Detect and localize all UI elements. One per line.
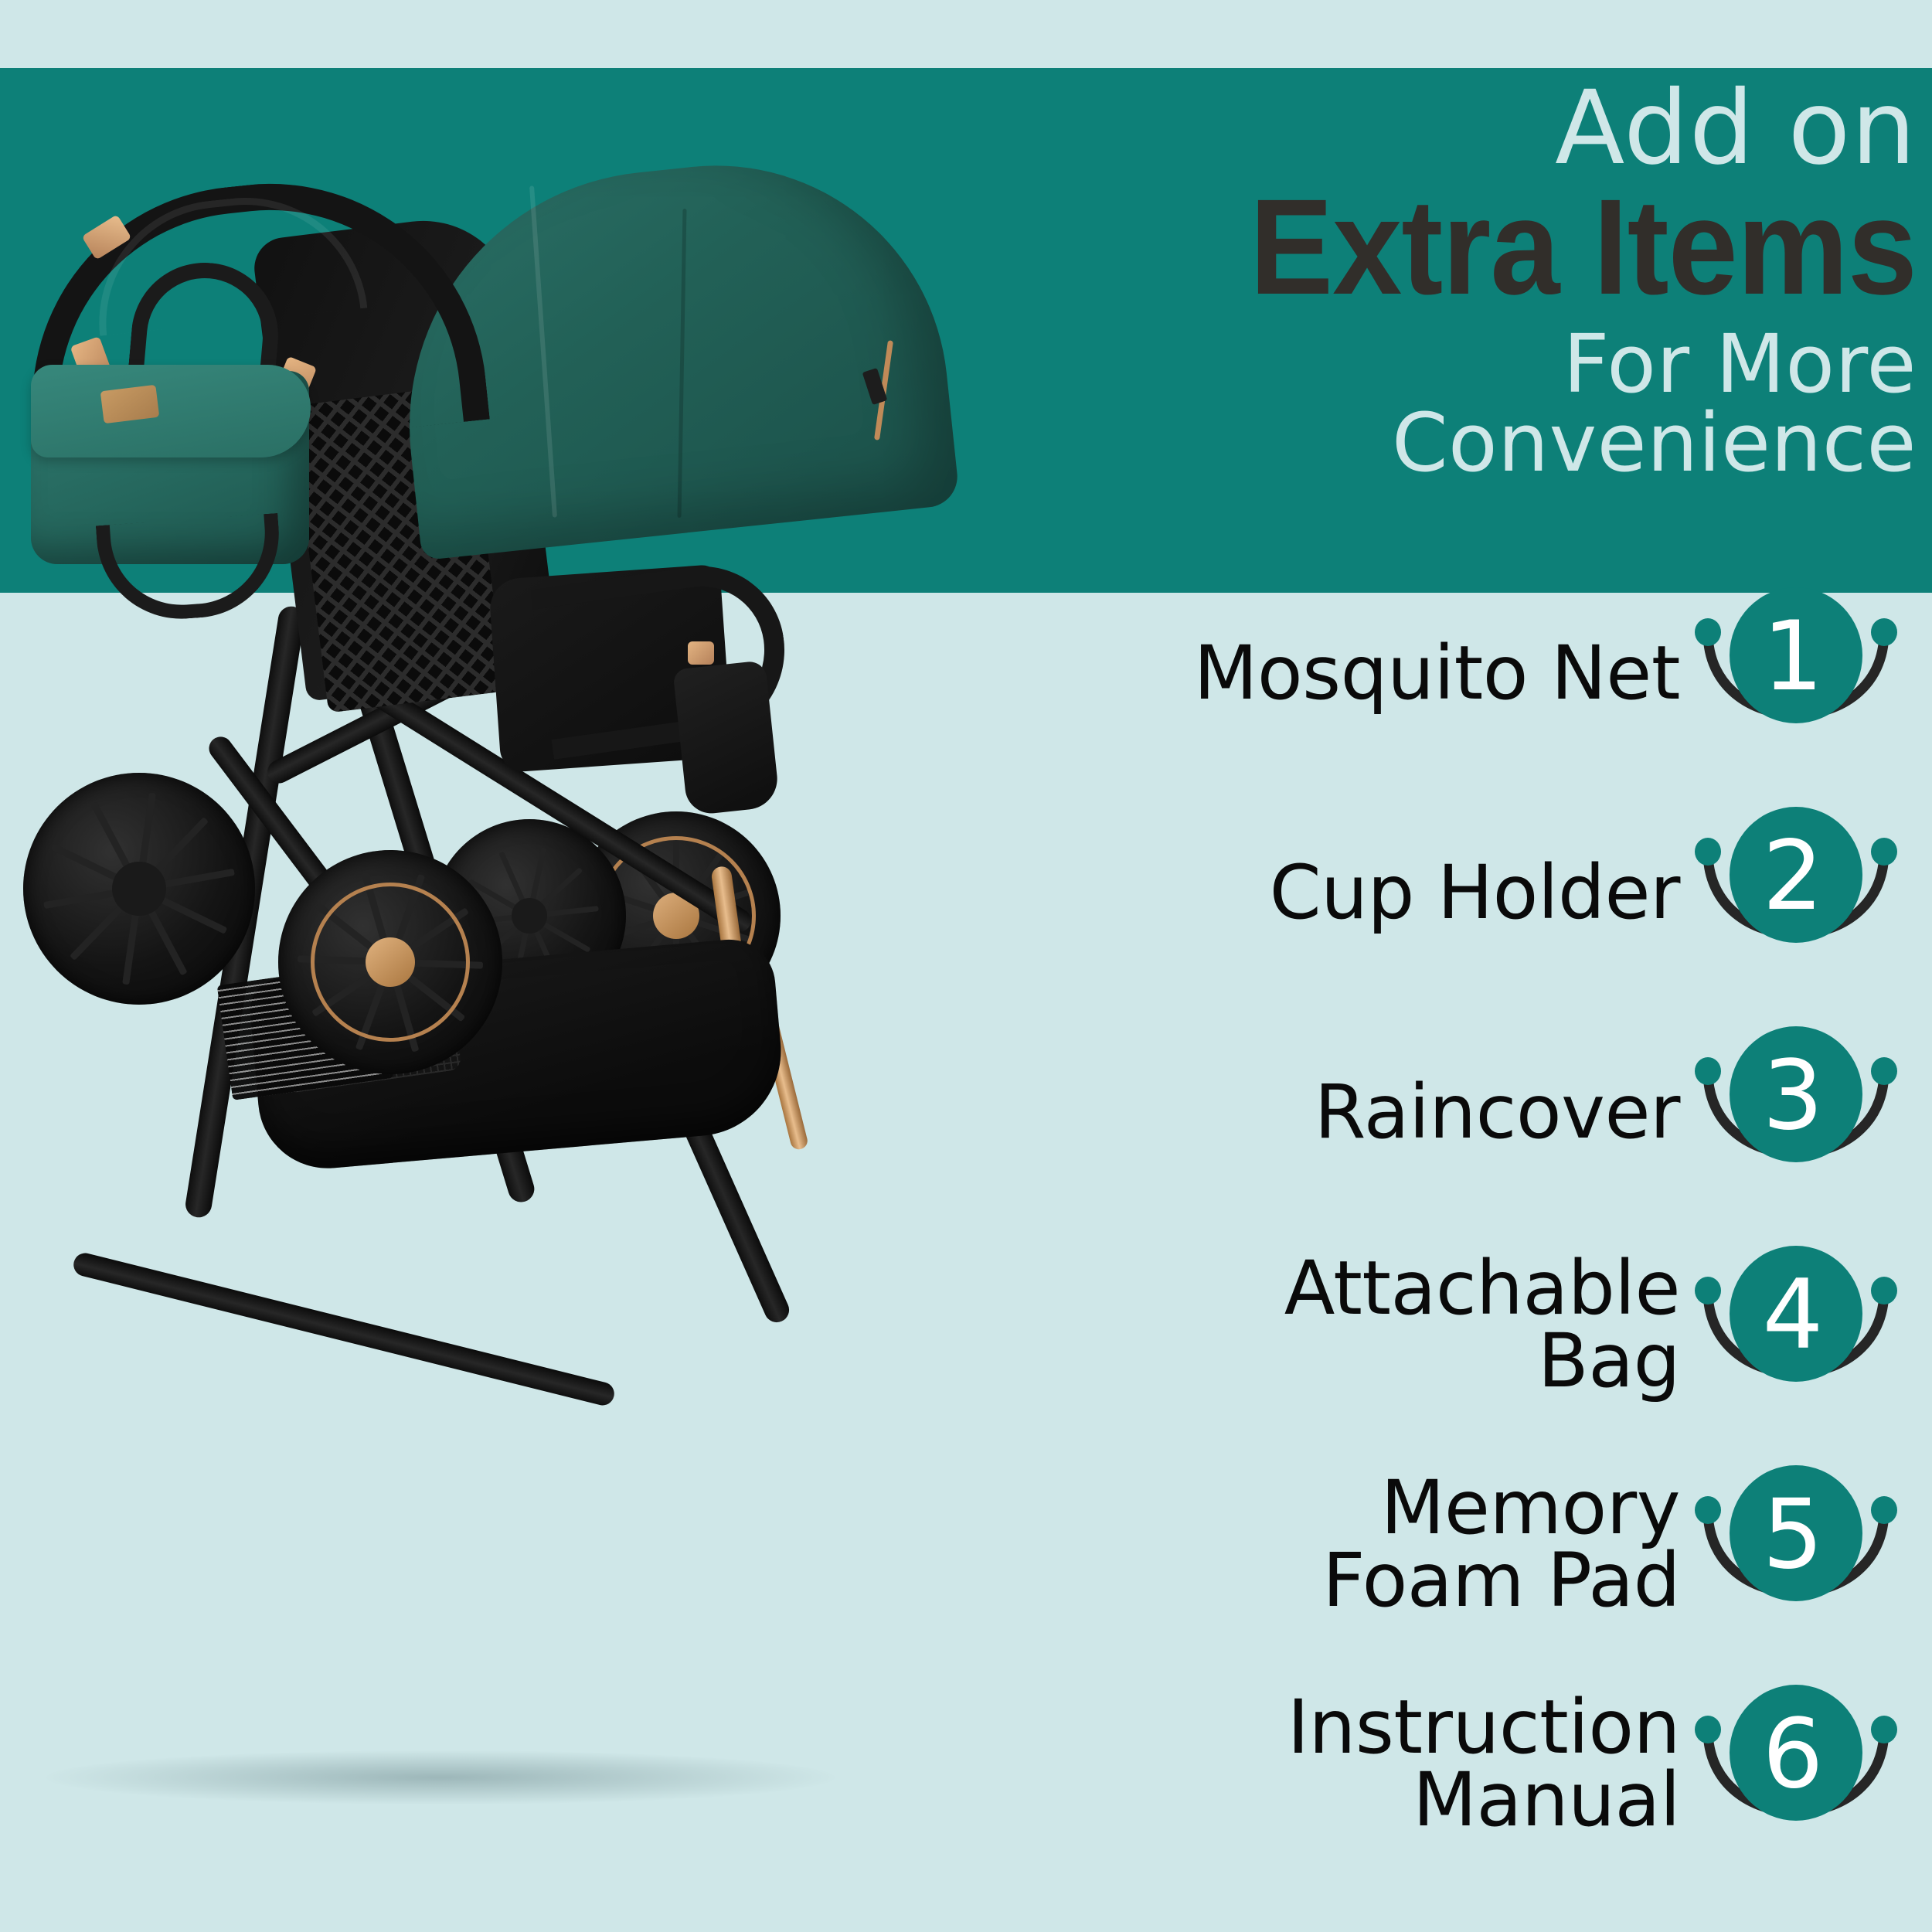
list-item[interactable]: Cup Holder 2 <box>1046 807 1912 1026</box>
bag-flap <box>31 365 311 457</box>
list-item[interactable]: Instruction Manual 6 <box>1046 1685 1912 1904</box>
list-item[interactable]: Raincover 3 <box>1046 1026 1912 1246</box>
item-label-6-line1: Instruction <box>1046 1691 1680 1764</box>
badge-number-1: 1 <box>1731 587 1855 726</box>
infographic-poster: Add on Extra Items For More Convenience … <box>0 0 1932 1932</box>
wheel-front-large <box>23 773 255 1005</box>
item-label-5: Memory Foam Pad <box>1046 1471 1680 1617</box>
item-label-4-line1: Attachable <box>1046 1252 1680 1325</box>
badge-number-3: 3 <box>1731 1026 1855 1165</box>
badge-number-5: 5 <box>1731 1465 1855 1604</box>
item-label-5-line2: Foam Pad <box>1046 1544 1680 1617</box>
item-label-1: Mosquito Net <box>1046 637 1680 709</box>
frame-tube-lower-rail <box>71 1250 617 1407</box>
list-item[interactable]: Memory Foam Pad 5 <box>1046 1465 1912 1685</box>
headline-subtitle-line1: For More <box>835 325 1917 404</box>
item-label-6-line2: Manual <box>1046 1764 1680 1836</box>
badge-number-2: 2 <box>1731 807 1855 946</box>
badge-2[interactable]: 2 <box>1680 807 1912 992</box>
badge-3[interactable]: 3 <box>1680 1026 1912 1212</box>
wheel-rear-large <box>278 850 502 1074</box>
list-item[interactable]: Attachable Bag 4 <box>1046 1246 1912 1465</box>
badge-number-6: 6 <box>1731 1685 1855 1824</box>
bag-leather-patch <box>100 385 160 423</box>
cup-holder-accessory <box>672 660 780 816</box>
item-label-4-line2: Bag <box>1046 1325 1680 1397</box>
page-title: Extra Items <box>921 182 1917 313</box>
cup-holder-gold-clip <box>688 641 714 665</box>
headline-block: Add on Extra Items For More Convenience <box>835 77 1917 483</box>
item-label-3: Raincover <box>1046 1076 1680 1148</box>
item-label-6: Instruction Manual <box>1046 1691 1680 1836</box>
addon-items-list: Mosquito Net 1 Cup Holder <box>1046 587 1912 1904</box>
headline-eyebrow: Add on <box>835 77 1917 179</box>
badge-number-4: 4 <box>1731 1246 1855 1385</box>
badge-1[interactable]: 1 <box>1680 587 1912 773</box>
headline-subtitle-line2: Convenience <box>835 404 1917 483</box>
bag-strap-loop <box>96 513 284 624</box>
item-label-4: Attachable Bag <box>1046 1252 1680 1397</box>
item-label-5-line1: Memory <box>1046 1471 1680 1544</box>
badge-4[interactable]: 4 <box>1680 1246 1912 1431</box>
item-label-2: Cup Holder <box>1046 856 1680 929</box>
list-item[interactable]: Mosquito Net 1 <box>1046 587 1912 807</box>
badge-6[interactable]: 6 <box>1680 1685 1912 1870</box>
badge-5[interactable]: 5 <box>1680 1465 1912 1651</box>
ground-shadow <box>46 1750 835 1804</box>
